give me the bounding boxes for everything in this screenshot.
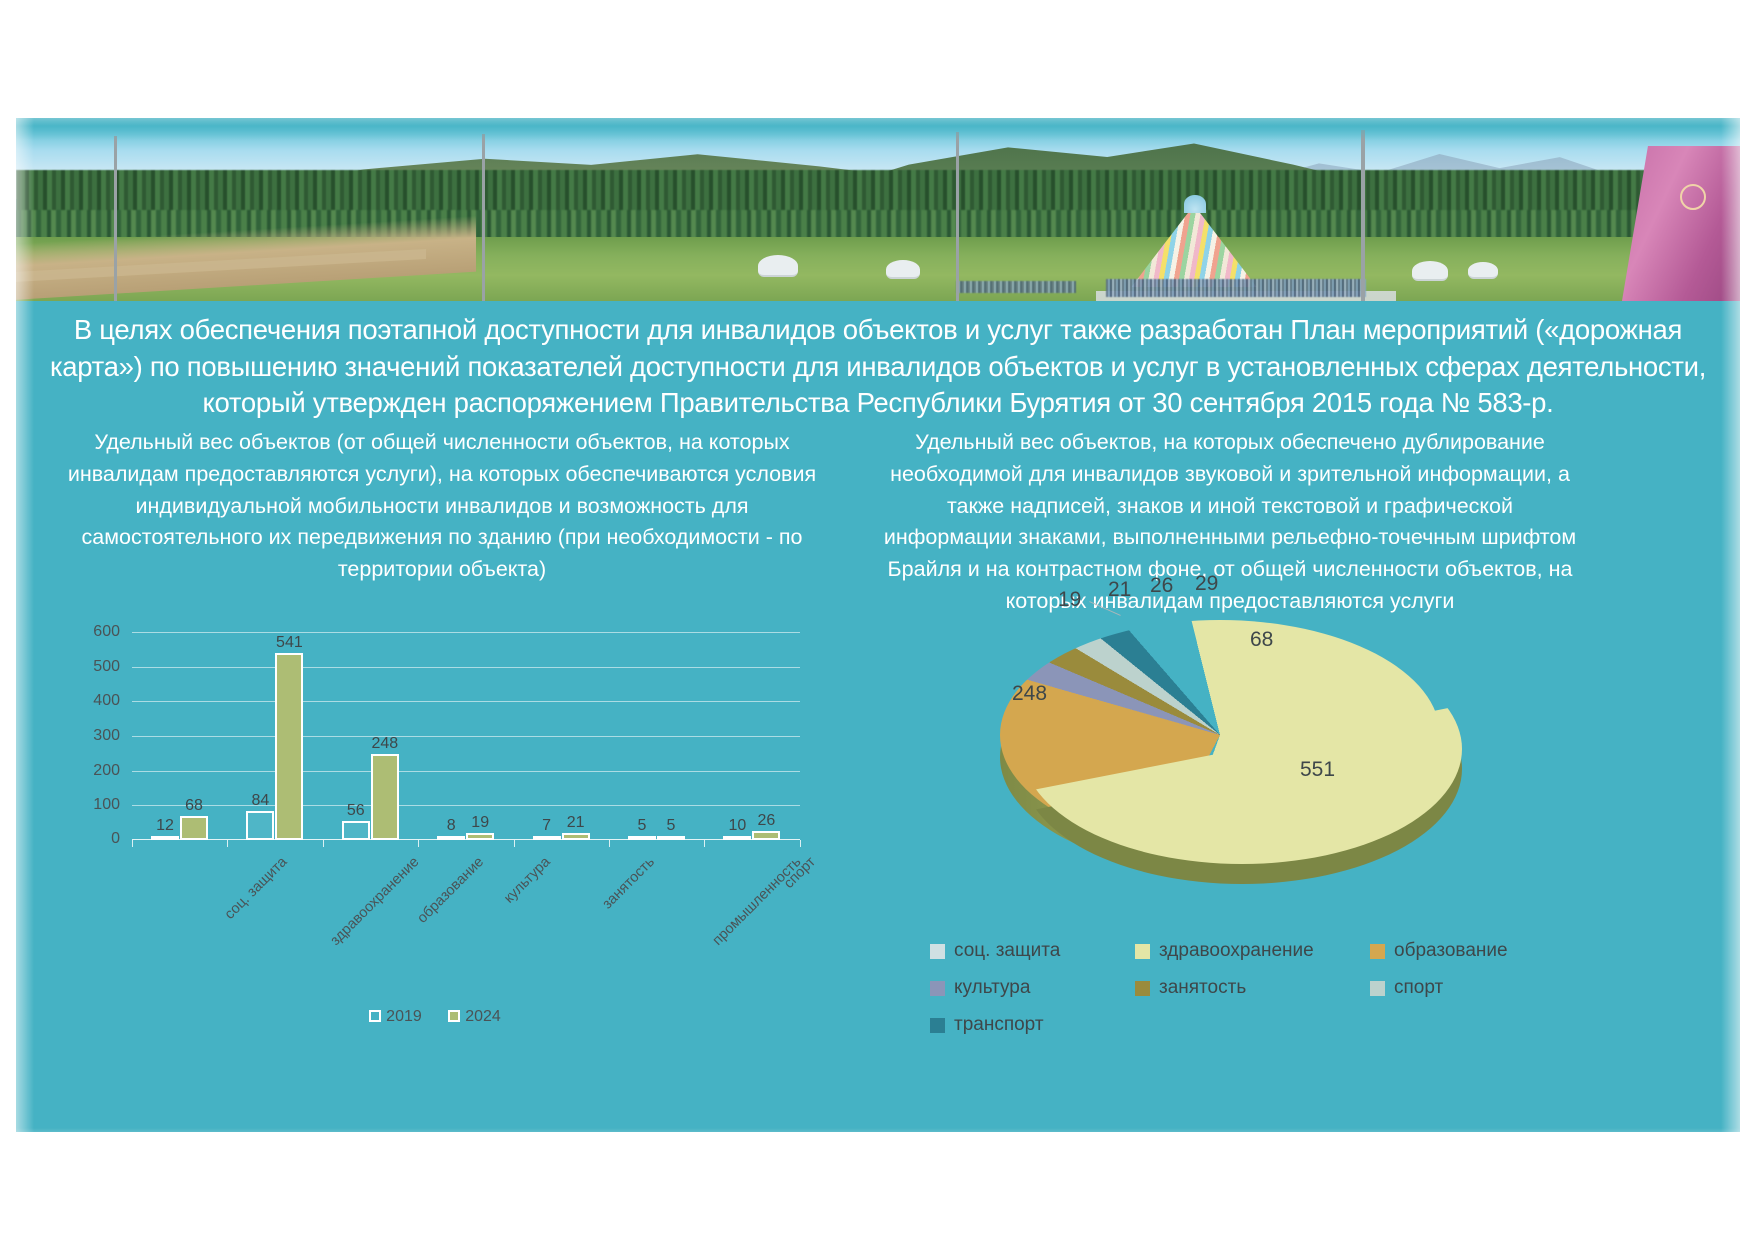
photo-pole-4 (1361, 130, 1365, 301)
xtick-1 (227, 840, 228, 847)
bar-2024-soc[interactable]: 68 (180, 816, 208, 840)
bar-label-2019-zdrav: 84 (251, 792, 269, 810)
pie-chart: 19 21 26 29 68 248 551 соц. защита здрав… (900, 600, 1600, 1030)
bar-label-2024-obraz: 248 (371, 735, 398, 753)
bar-group-prom: 5 5 промышленность (609, 632, 704, 840)
pie-chart-legend: соц. защита здравоохранение образование … (930, 940, 1550, 1051)
pie-legend-item-zdrav[interactable]: здравоохранение (1135, 940, 1370, 962)
bar-label-2024-zanyatost: 21 (567, 814, 585, 832)
pie-label-soc: 68 (1250, 628, 1273, 652)
pie-legend-label-zanyatost: занятость (1159, 977, 1246, 999)
legend-swatch-2019-icon (369, 1010, 381, 1022)
photo-crowd (1106, 279, 1366, 297)
pie-legend-label-sport: спорт (1394, 977, 1443, 999)
photo-top-fade (16, 118, 1740, 140)
ytick-100: 100 (93, 796, 120, 814)
bar-2019-zdrav[interactable]: 84 (246, 811, 274, 840)
left-chart-title: Удельный вес объектов (от общей численно… (62, 427, 822, 586)
ytick-500: 500 (93, 658, 120, 676)
pie-legend-item-soc[interactable]: соц. защита (930, 940, 1135, 962)
bar-2019-prom[interactable]: 5 (628, 836, 656, 840)
xtick-4 (514, 840, 515, 847)
pie-legend-item-sport[interactable]: спорт (1370, 977, 1443, 999)
bar-label-2024-kultura: 19 (471, 814, 489, 832)
pie-legend-swatch-soc-icon (930, 944, 945, 959)
bar-group-soc: 12 68 соц. защита (132, 632, 227, 840)
bar-chart-plot-area: 600 500 400 300 200 100 0 (132, 632, 800, 840)
pie-label-obraz: 248 (1012, 682, 1047, 706)
right-chart-title: Удельный вес объектов, на которых обеспе… (880, 427, 1580, 618)
photo-pole-1 (114, 136, 117, 301)
ytick-600: 600 (93, 623, 120, 641)
pie-chart-plot-area: 19 21 26 29 68 248 551 (1000, 620, 1440, 900)
bar-2024-sport[interactable]: 26 (752, 831, 780, 840)
bar-2024-obraz[interactable]: 248 (371, 754, 399, 840)
bar-2019-obraz[interactable]: 56 (342, 821, 370, 840)
xtick-0 (132, 840, 133, 847)
photo-yurt-3 (1412, 261, 1448, 281)
pie-label-zanyatost: 21 (1108, 578, 1131, 602)
photo-pole-3 (956, 132, 959, 301)
photo-pole-2 (482, 134, 485, 301)
bar-2024-zdrav[interactable]: 541 (275, 653, 303, 841)
pie-legend-swatch-zanyatost-icon (1135, 981, 1150, 996)
ytick-200: 200 (93, 762, 120, 780)
legend-item-2024[interactable]: 2024 (448, 1008, 501, 1026)
bar-group-kultura: 8 19 культура (418, 632, 513, 840)
legend-swatch-2024-icon (448, 1010, 460, 1022)
bar-label-2019-soc: 12 (156, 817, 174, 835)
bar-group-zanyatost: 7 21 занятость (514, 632, 609, 840)
slide-root: В целях обеспечения поэтапной доступност… (0, 0, 1755, 1240)
pie-legend-swatch-transport-icon (930, 1018, 945, 1033)
photo-banner-emblem (1680, 184, 1706, 210)
photo-tent-cupola (1184, 195, 1206, 213)
bar-group-sport: 10 26 спорт (704, 632, 799, 840)
pie-legend-label-soc: соц. защита (954, 940, 1060, 962)
pie-legend-label-obraz: образование (1394, 940, 1508, 962)
ytick-300: 300 (93, 727, 120, 745)
pie-legend-swatch-zdrav-icon (1135, 944, 1150, 959)
pie-leader-line-kultura (1089, 601, 1120, 616)
bar-2024-kultura[interactable]: 19 (466, 833, 494, 840)
bar-2019-kultura[interactable]: 8 (437, 836, 465, 840)
pie-legend-row-2: культура занятость спорт (930, 977, 1550, 999)
pie-legend-label-kultura: культура (954, 977, 1030, 999)
bar-group-zdrav: 84 541 здравоохранение (227, 632, 322, 840)
bar-label-2024-soc: 68 (185, 797, 203, 815)
pie-legend-item-obraz[interactable]: образование (1370, 940, 1508, 962)
photo-yurt-2 (886, 260, 920, 279)
bar-2024-prom[interactable]: 5 (657, 836, 685, 840)
bar-group-obraz: 56 248 образование (323, 632, 418, 840)
bar-label-2019-sport: 10 (728, 817, 746, 835)
bar-2019-sport[interactable]: 10 (723, 836, 751, 840)
bar-label-2019-zanyatost: 7 (542, 817, 551, 835)
bar-label-2024-prom: 5 (667, 817, 676, 835)
xtick-7 (800, 840, 801, 847)
xlabel-zanyatost: занятость (599, 854, 657, 912)
pie-legend-label-transport: транспорт (954, 1014, 1044, 1036)
pie-legend-item-transport[interactable]: транспорт (930, 1014, 1135, 1036)
xtick-3 (418, 840, 419, 847)
bar-label-2019-prom: 5 (638, 817, 647, 835)
bar-2024-zanyatost[interactable]: 21 (562, 833, 590, 840)
xlabel-zdrav: здравоохранение (328, 854, 423, 949)
xlabel-kultura: культура (501, 854, 554, 907)
bar-label-2019-obraz: 56 (347, 802, 365, 820)
bar-2019-soc[interactable]: 12 (151, 836, 179, 840)
pie-legend-row-3: транспорт (930, 1014, 1550, 1036)
intro-paragraph: В целях обеспечения поэтапной доступност… (48, 312, 1708, 422)
bar-chart-legend: 2019 2024 (40, 1008, 830, 1026)
pie-label-transport: 29 (1195, 572, 1218, 596)
legend-label-2019: 2019 (386, 1008, 422, 1025)
ytick-400: 400 (93, 692, 120, 710)
bar-label-2019-kultura: 8 (447, 817, 456, 835)
pie-legend-swatch-obraz-icon (1370, 944, 1385, 959)
pie-legend-label-zdrav: здравоохранение (1159, 940, 1314, 962)
bar-label-2024-zdrav: 541 (276, 634, 303, 652)
photo-yurt-4 (1468, 262, 1498, 279)
photo-yurt-1 (758, 255, 798, 277)
pie-label-sport: 26 (1150, 574, 1173, 598)
legend-item-2019[interactable]: 2019 (369, 1008, 422, 1026)
pie-legend-row-1: соц. защита здравоохранение образование (930, 940, 1550, 962)
xtick-6 (704, 840, 705, 847)
pie-legend-swatch-kultura-icon (930, 981, 945, 996)
pie-legend-item-zanyatost[interactable]: занятость (1135, 977, 1370, 999)
legend-label-2024: 2024 (465, 1008, 501, 1025)
pie-label-kultura: 19 (1058, 588, 1081, 612)
pie-legend-item-kultura[interactable]: культура (930, 977, 1135, 999)
ytick-0: 0 (111, 830, 120, 848)
photo-crowd-left (956, 281, 1076, 293)
bar-2019-zanyatost[interactable]: 7 (533, 836, 561, 840)
xtick-2 (323, 840, 324, 847)
xtick-5 (609, 840, 610, 847)
xlabel-obraz: образование (414, 854, 487, 927)
pie-legend-swatch-sport-icon (1370, 981, 1385, 996)
xlabel-soc: соц. защита (222, 854, 291, 923)
xlabel-prom: промышленность (710, 854, 805, 949)
panorama-photo (16, 118, 1740, 301)
pie-label-zdrav: 551 (1300, 758, 1335, 782)
bar-chart: 600 500 400 300 200 100 0 (40, 610, 830, 1030)
bar-label-2024-sport: 26 (757, 812, 775, 830)
